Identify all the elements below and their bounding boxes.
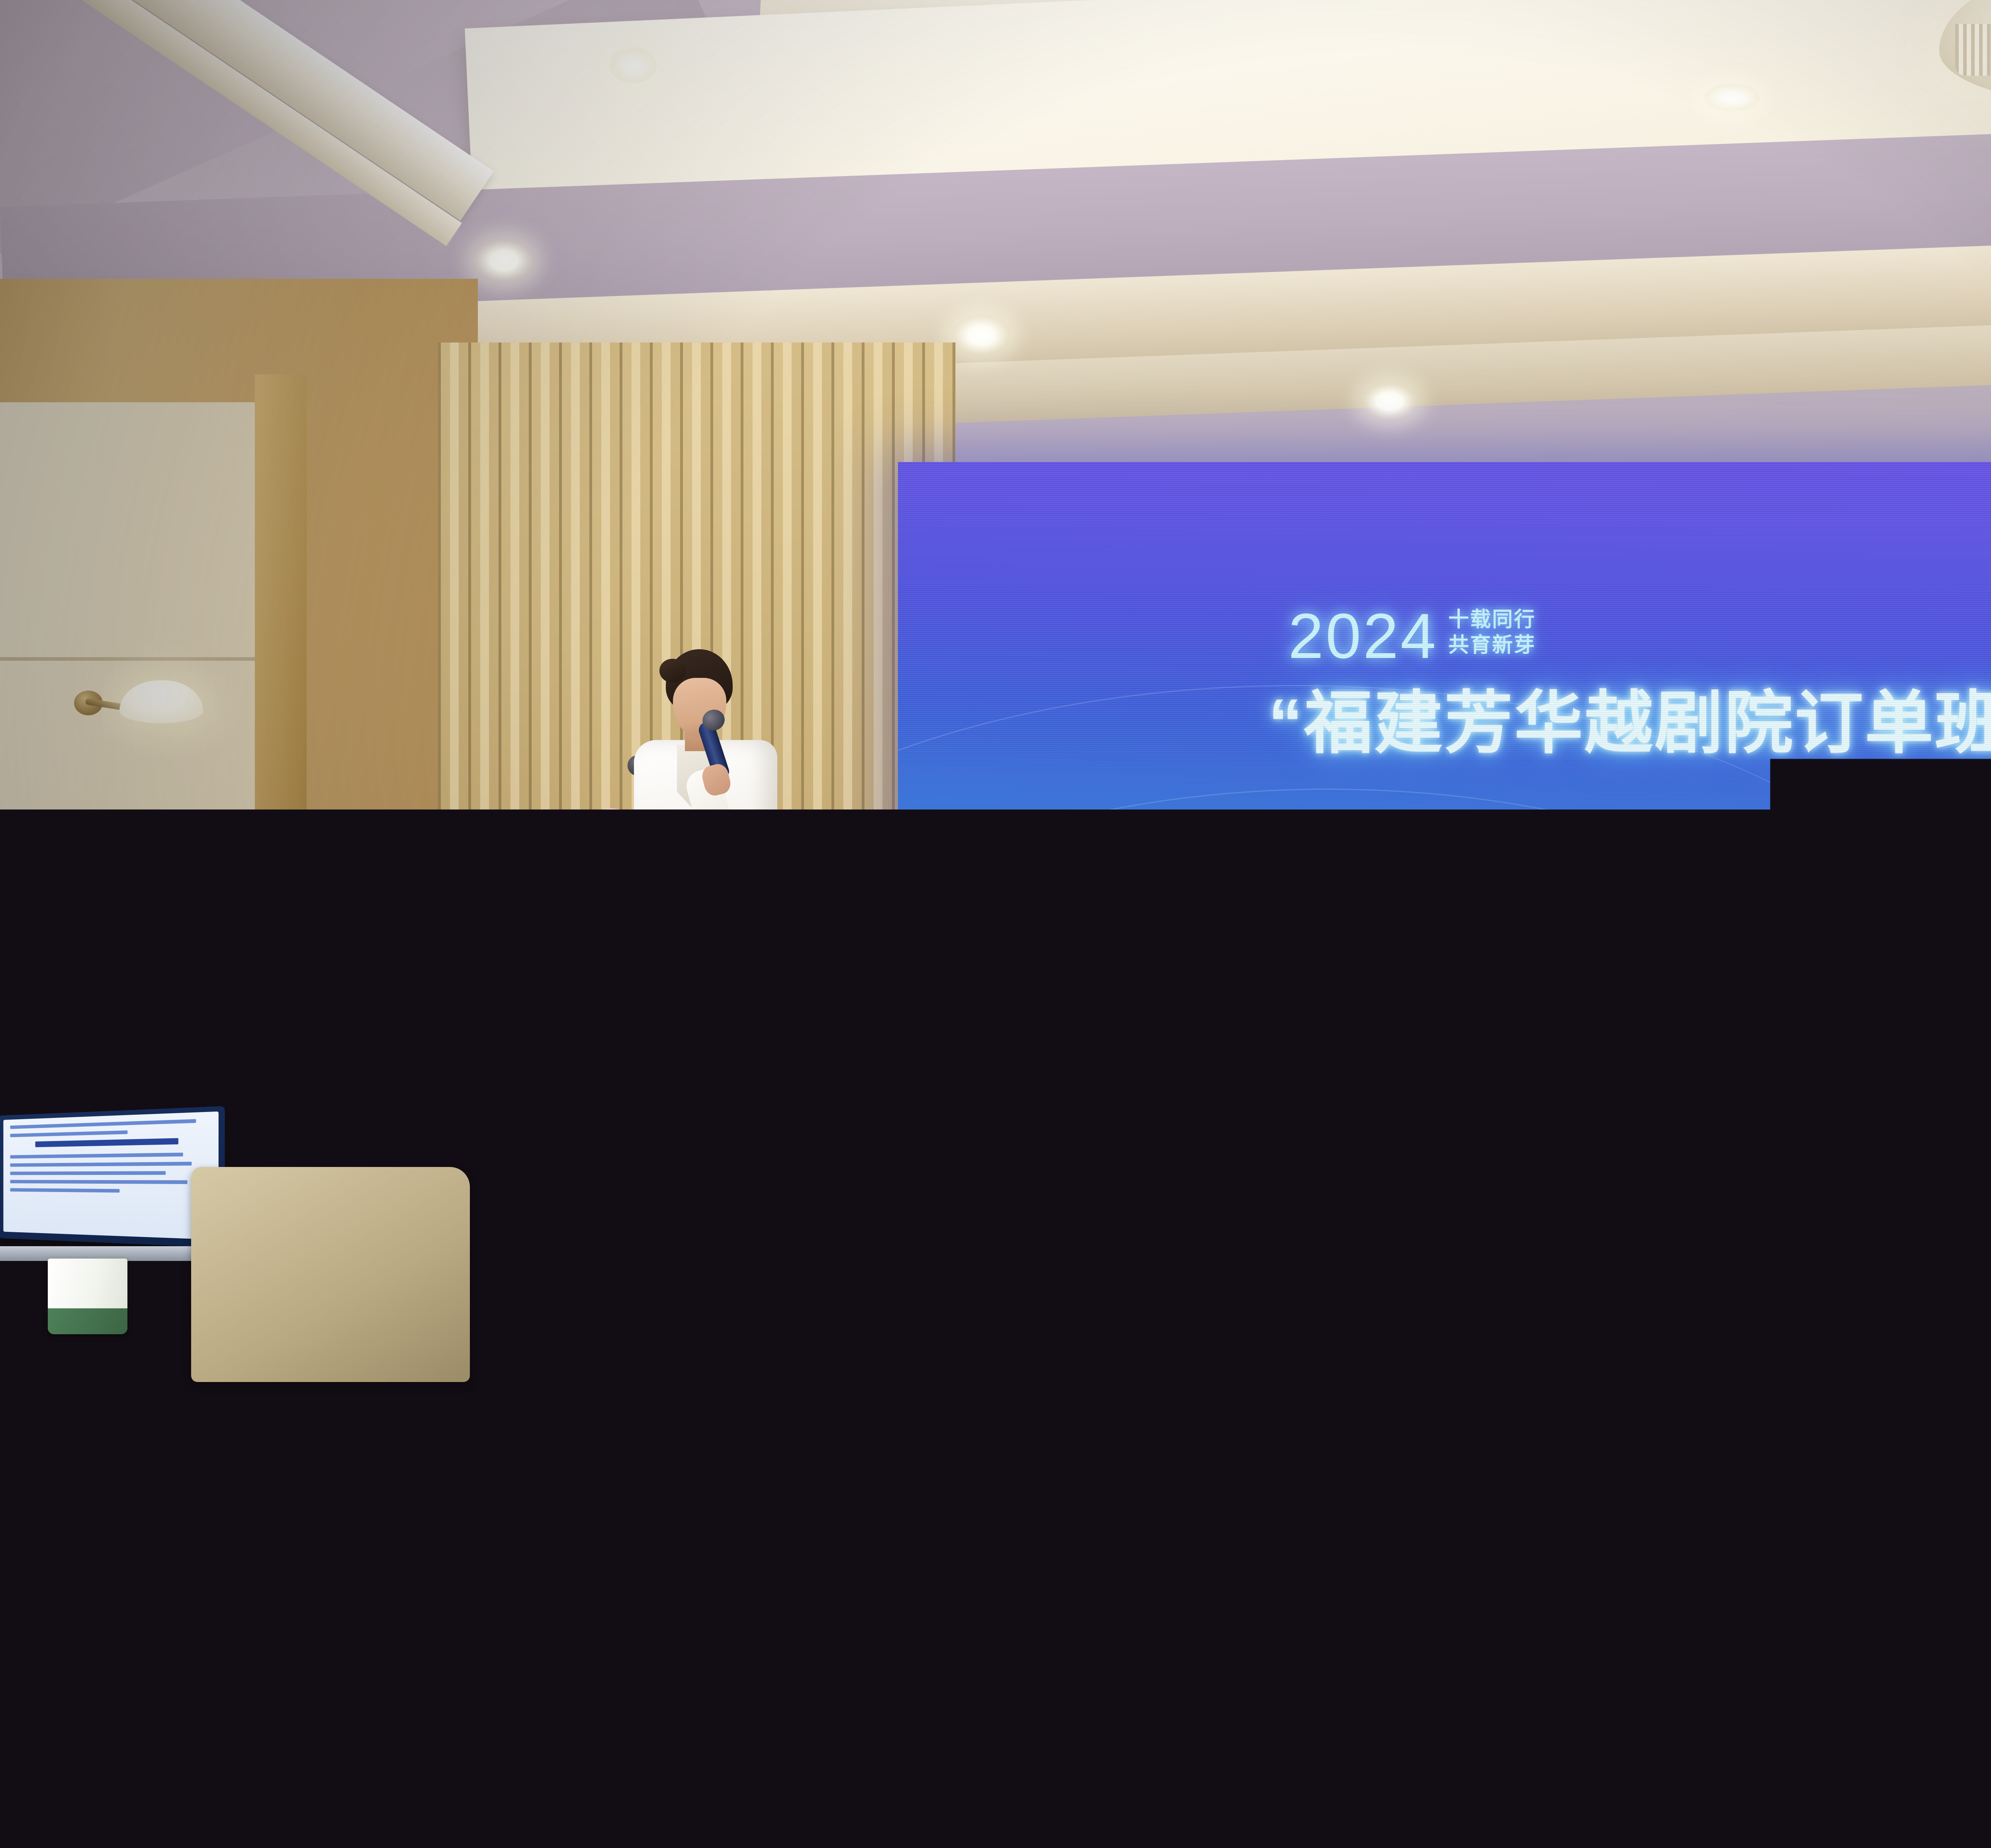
water-bottle — [167, 1199, 217, 1338]
screen-tagline: 十载同行 共育新芽 — [1448, 609, 1536, 662]
chandelier-crystal-ring — [1955, 24, 1991, 76]
doc-title-line — [35, 1138, 178, 1147]
text-line — [10, 1130, 128, 1137]
paper-cup — [832, 1123, 876, 1165]
bottle-label — [171, 1278, 213, 1327]
speaker-at-podium — [621, 649, 788, 1047]
flower — [474, 924, 518, 962]
attendee-head — [1115, 1147, 1394, 1466]
conference-hall-photo: 海丝起点 清新福建 HAI SI QI DIAN QING XIN FU JIA… — [0, 0, 1991, 1848]
speaker-hair-bun — [659, 659, 686, 683]
bottle-label — [1333, 1148, 1363, 1183]
text-line — [10, 1171, 166, 1175]
attendee — [1971, 996, 1991, 1203]
downlight-icon — [609, 47, 657, 84]
water-bottle — [1979, 1541, 1991, 1713]
bottle-body — [773, 1086, 807, 1171]
sconce-shade — [119, 680, 203, 723]
flower — [502, 828, 546, 868]
screen-signing-unit: 签约单位:福建芳华越剧院 浙江艺术职业学院戏曲学院 — [1471, 888, 1991, 924]
screen-year: 2024 — [1288, 610, 1438, 662]
attendee-torso — [358, 1346, 816, 1641]
downlight-icon — [1704, 84, 1760, 112]
screen-main-title: “福建芳华越剧院订单班”招生发布会 — [1268, 689, 1991, 758]
bottle-label — [1983, 1637, 1991, 1699]
attendee-torso — [0, 1386, 319, 1848]
water-bottle — [773, 1071, 807, 1171]
attendee-torso — [1426, 1374, 1919, 1701]
attendee-head — [315, 852, 426, 972]
paper-cup — [48, 1259, 127, 1334]
panel-seam — [0, 824, 268, 828]
text-line — [10, 1153, 183, 1159]
attendee-head — [1135, 944, 1238, 1051]
text-line — [10, 1188, 120, 1192]
bottle-body — [1979, 1556, 1991, 1713]
attendee — [1457, 1016, 1887, 1693]
panel-seam — [0, 657, 268, 661]
tote-bag — [191, 1167, 470, 1382]
bottle-cap — [169, 1099, 194, 1114]
water-bottle — [1330, 1087, 1366, 1191]
bottle-cap — [1338, 1087, 1358, 1102]
chandelier — [1895, 0, 1991, 183]
screen-year-row: 2024 十载同行 共育新芽 — [1288, 609, 1536, 662]
bottle-cap — [780, 1071, 799, 1086]
bottle-cap — [178, 1199, 206, 1214]
attendee-torso — [1975, 1083, 1991, 1210]
downlight-icon — [952, 315, 1011, 356]
wall-sconce — [72, 673, 203, 741]
bottle-label — [775, 1130, 804, 1163]
tagline-line-2: 共育新芽 — [1448, 635, 1536, 656]
downlight-icon — [474, 239, 534, 282]
bottle-body — [1330, 1102, 1366, 1191]
bottle-body — [167, 1213, 217, 1338]
tagline-line-1: 十载同行 — [1448, 609, 1536, 630]
flower — [550, 920, 597, 962]
screen-guide-unit: 指导单位:福建省文化和旅游厅 — [1471, 840, 1810, 876]
downlight-icon — [1362, 382, 1418, 421]
